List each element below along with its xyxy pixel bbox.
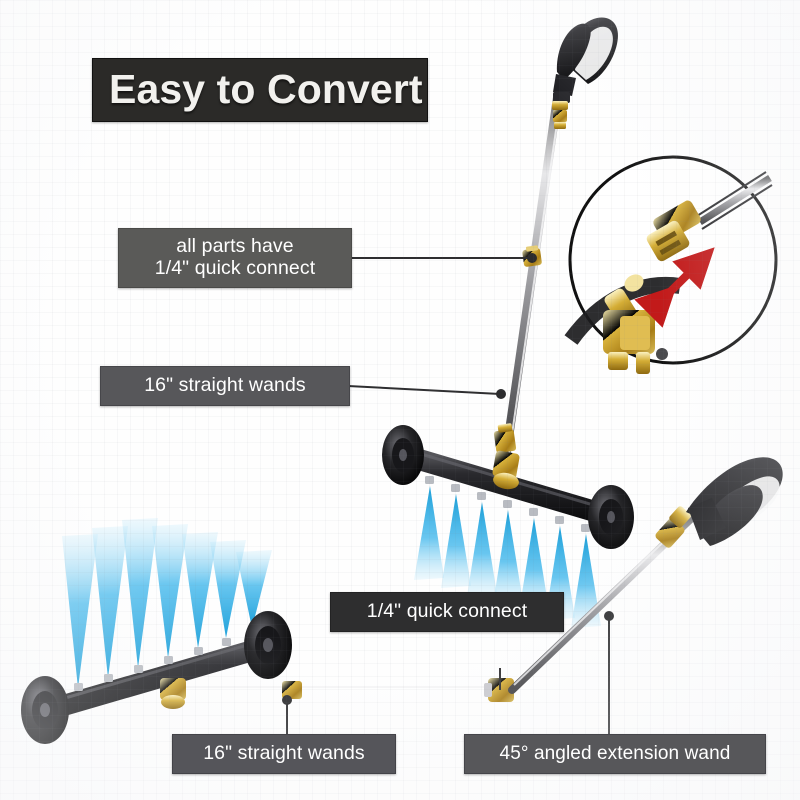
callout-straight-wands-bottom-text: 16" straight wands (203, 743, 365, 765)
wheel-upper-right (588, 485, 634, 549)
wheel-upper-left (382, 425, 424, 485)
callout-angled-extension-wand-text: 45° angled extension wand (500, 743, 731, 764)
brass-tee-upper (492, 450, 520, 491)
callout-quick-connect-mid-text: 1/4" quick connect (367, 601, 528, 623)
product-infographic: Easy to Convert all parts have 1/4" quic… (0, 0, 800, 800)
wheel-lower-right (244, 611, 292, 679)
brass-tee-lower (160, 678, 186, 709)
spray-gun-lower (686, 457, 783, 546)
callout-straight-wands-top: 16" straight wands (100, 366, 350, 406)
page-title-text: Easy to Convert (109, 67, 423, 113)
page-title: Easy to Convert (92, 58, 428, 122)
detail-inset (570, 157, 776, 374)
leader-straight-top (348, 386, 500, 394)
callout-all-parts-quick-connect-text: all parts have 1/4" quick connect (155, 236, 316, 280)
callout-angled-extension-wand: 45° angled extension wand (464, 734, 766, 774)
callout-straight-wands-bottom: 16" straight wands (172, 734, 396, 774)
wheel-lower-left (21, 676, 69, 744)
callout-all-parts-quick-connect: all parts have 1/4" quick connect (118, 228, 352, 288)
callout-quick-connect-mid: 1/4" quick connect (330, 592, 564, 632)
spray-gun-top (552, 18, 618, 129)
callout-straight-wands-top-text: 16" straight wands (144, 375, 306, 397)
